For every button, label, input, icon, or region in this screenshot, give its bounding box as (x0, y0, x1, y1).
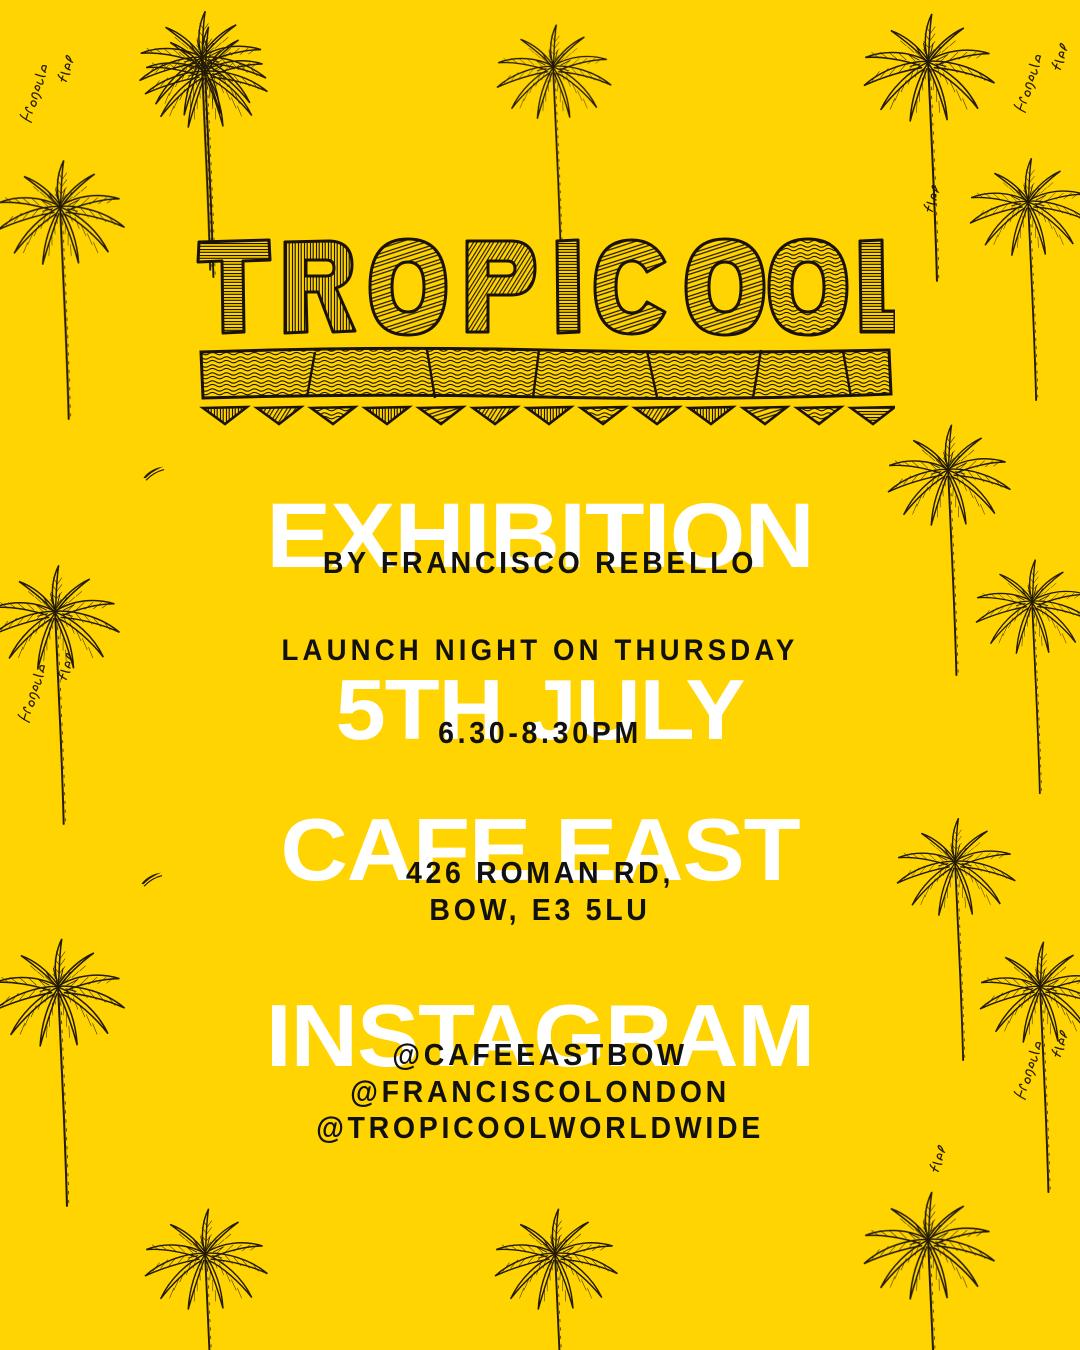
logo-letter-i (557, 240, 579, 333)
exhibition-section: EXHIBITION BY FRANCISCO REBELLO (0, 494, 1080, 581)
instagram-handle[interactable]: @TROPICOOLWORLDWIDE (43, 1110, 1037, 1147)
date-section: LAUNCH NIGHT ON THURSDAY 5TH JULY 6.30-8… (0, 633, 1080, 751)
instagram-handle[interactable]: @FRANCISCOLONDON (43, 1074, 1037, 1111)
tropicool-logo (195, 236, 895, 426)
venue-address-line-1: 426 ROMAN RD, (43, 855, 1037, 892)
exhibition-byline: BY FRANCISCO REBELLO (43, 545, 1037, 582)
logo-letter-l (860, 240, 895, 332)
venue-address-line-2: BOW, E3 5LU (43, 892, 1037, 929)
event-time: 6.30-8.30PM (43, 715, 1037, 752)
logo-letter-r (285, 241, 355, 333)
logo-letter-o-1 (370, 239, 446, 335)
logo-letter-t (198, 240, 270, 333)
social-section: INSTAGRAM @CAFEEASTBOW @FRANCISCOLONDON … (0, 996, 1080, 1147)
logo-letter-o-3 (769, 239, 847, 335)
logo-texture-bar (201, 348, 891, 398)
palm-cluster-bottom (145, 1192, 995, 1350)
venue-address: 426 ROMAN RD, BOW, E3 5LU (43, 855, 1037, 928)
venue-section: CAFE EAST 426 ROMAN RD, BOW, E3 5LU (0, 810, 1080, 928)
logo-letter-o-2 (686, 239, 764, 335)
poster-canvas: EXHIBITION BY FRANCISCO REBELLO LAUNCH N… (0, 0, 1080, 1350)
logo-letter-p (467, 241, 535, 332)
logo-letter-c (595, 240, 665, 334)
instagram-handle[interactable]: @CAFEEASTBOW (43, 1037, 1037, 1074)
instagram-handle-list: @CAFEEASTBOW @FRANCISCOLONDON @TROPICOOL… (43, 1037, 1037, 1147)
logo-bunting-triangles (203, 407, 895, 424)
